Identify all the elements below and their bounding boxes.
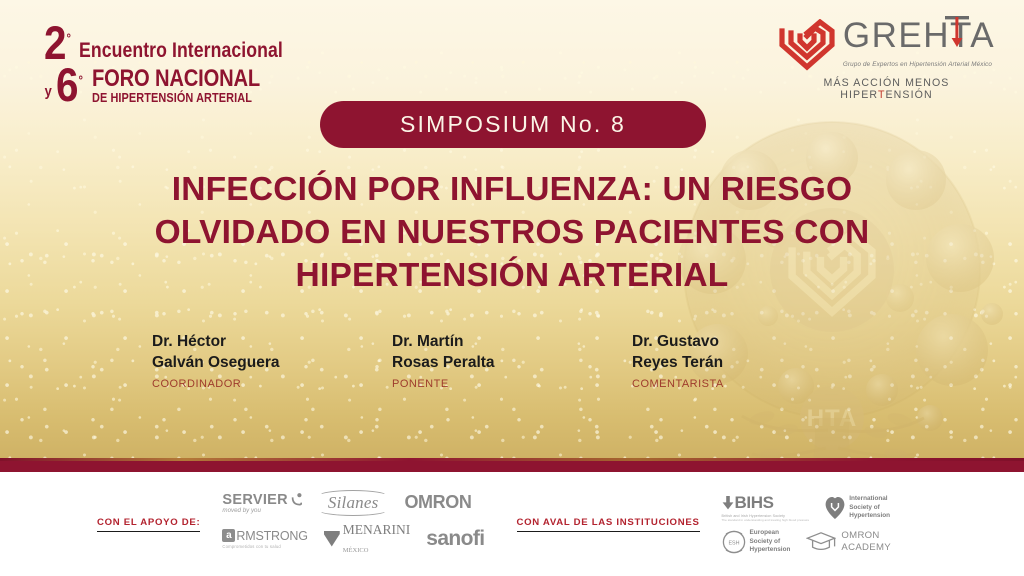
servier-mark-icon — [291, 493, 302, 506]
title-line-1: INFECCIÓN POR INFLUENZA: UN RIESGO — [62, 168, 962, 211]
section-divider-bar — [0, 458, 1024, 472]
simposium-badge-label: SIMPOSIUM No. 8 — [400, 111, 626, 138]
menarini-mark-icon — [324, 531, 340, 547]
speaker-name: Dr. Gustavo Reyes Terán — [632, 332, 872, 374]
page-title: INFECCIÓN POR INFLUENZA: UN RIESGO OLVID… — [62, 168, 962, 298]
grehta-subtitle: Grupo de Expertos en Hipertensión Arteri… — [843, 61, 992, 68]
speaker-role: COMENTARISTA — [632, 378, 872, 390]
divider-gold-sheen — [0, 458, 1024, 461]
grehta-heart-maze-icon — [778, 19, 836, 71]
speaker-name: Dr. Héctor Galván Oseguera — [152, 332, 392, 374]
institution-logo-ish: International Society of Hypertension — [825, 495, 890, 520]
sponsor-logo-armstrong: aRMSTRONG Comprometidos con tu salud — [222, 529, 307, 549]
speaker-card: Dr. Martín Rosas Peralta PONENTE — [392, 332, 632, 390]
hero-section: HTA — [0, 0, 1024, 458]
support-logo-row-2: aRMSTRONG Comprometidos con tu salud MEN… — [222, 521, 484, 557]
ish-label: International Society of Hypertension — [849, 495, 890, 520]
endorsement-group: CON AVAL DE LAS INSTITUCIONES — [517, 517, 700, 532]
speaker-role: PONENTE — [392, 378, 632, 390]
endorsement-logo-row-2: ESH European Society of Hypertension OMR… — [722, 529, 891, 554]
speakers-list: Dr. Héctor Galván Oseguera COORDINADOR D… — [0, 332, 1024, 390]
down-arrow-icon — [722, 496, 734, 510]
t-arrow-icon — [944, 15, 970, 49]
sponsors-footer: CON EL APOYO DE: SERVIER moved by you Si… — [0, 472, 1024, 576]
sponsor-logo-silanes: Silanes — [318, 493, 389, 513]
simposium-badge: SIMPOSIUM No. 8 — [320, 101, 706, 148]
sponsor-logo-sanofi: sanofi — [426, 527, 484, 551]
endorsement-logo-row-1: BIHS British and Irish Hypertension Soci… — [722, 493, 891, 522]
institution-logo-omron-academy: OMRON ACADEMY — [806, 530, 891, 555]
watermark-hta-label: HTA — [807, 405, 858, 432]
institution-logo-esh: ESH European Society of Hypertension — [722, 529, 791, 554]
speaker-card: Dr. Gustavo Reyes Terán COMENTARISTA — [632, 332, 872, 390]
speaker-role: COORDINADOR — [152, 378, 392, 390]
sponsor-logo-servier: SERVIER moved by you — [222, 492, 302, 514]
title-line-2: OLVIDADO EN NUESTROS PACIENTES CON — [62, 211, 962, 254]
speaker-card: Dr. Héctor Galván Oseguera COORDINADOR — [152, 332, 392, 390]
endorsement-label: CON AVAL DE LAS INSTITUCIONES — [517, 517, 700, 532]
event-title-lockup: 2° Encuentro Internacional y 6° FORO NAC… — [44, 24, 344, 104]
presentation-slide: HTA — [0, 0, 1024, 576]
grehta-logo: GREHTA Grupo de Expertos en Hipertensión… — [779, 18, 994, 101]
grehta-tagline: MÁS ACCIÓN MENOS HIPERTENSIÓN — [779, 77, 994, 101]
support-group: CON EL APOYO DE: — [97, 517, 200, 532]
institution-logo-bihs: BIHS British and Irish Hypertension Soci… — [722, 493, 810, 522]
event-line-2: FORO NACIONAL — [92, 67, 260, 90]
endorsement-logos: BIHS British and Irish Hypertension Soci… — [722, 493, 891, 554]
sponsor-logo-omron: OMRON — [404, 492, 471, 513]
omron-academy-label: OMRON ACADEMY — [841, 530, 891, 555]
title-line-3: HIPERTENSIÓN ARTERIAL — [62, 254, 962, 297]
heart-icon — [825, 496, 845, 520]
svg-text:ESH: ESH — [728, 540, 739, 546]
graduation-cap-icon — [806, 531, 836, 553]
support-label: CON EL APOYO DE: — [97, 517, 200, 532]
event-line-3: DE HIPERTENSIÓN ARTERIAL — [92, 90, 260, 104]
speaker-name: Dr. Martín Rosas Peralta — [392, 332, 632, 374]
event-line-1: Encuentro Internacional — [79, 40, 283, 63]
sponsor-logo-menarini: MENARINI MÉXICO — [324, 521, 411, 557]
esh-label: European Society of Hypertension — [750, 529, 791, 554]
grehta-wordmark: GREHTA — [843, 18, 995, 53]
esh-circle-icon: ESH — [722, 530, 746, 554]
support-logo-row-1: SERVIER moved by you Silanes OMRON — [222, 492, 484, 514]
support-logos: SERVIER moved by you Silanes OMRON aRMST… — [222, 492, 484, 557]
event-ordinal-second: 6° — [56, 66, 83, 105]
event-conjunction: y — [45, 84, 52, 104]
